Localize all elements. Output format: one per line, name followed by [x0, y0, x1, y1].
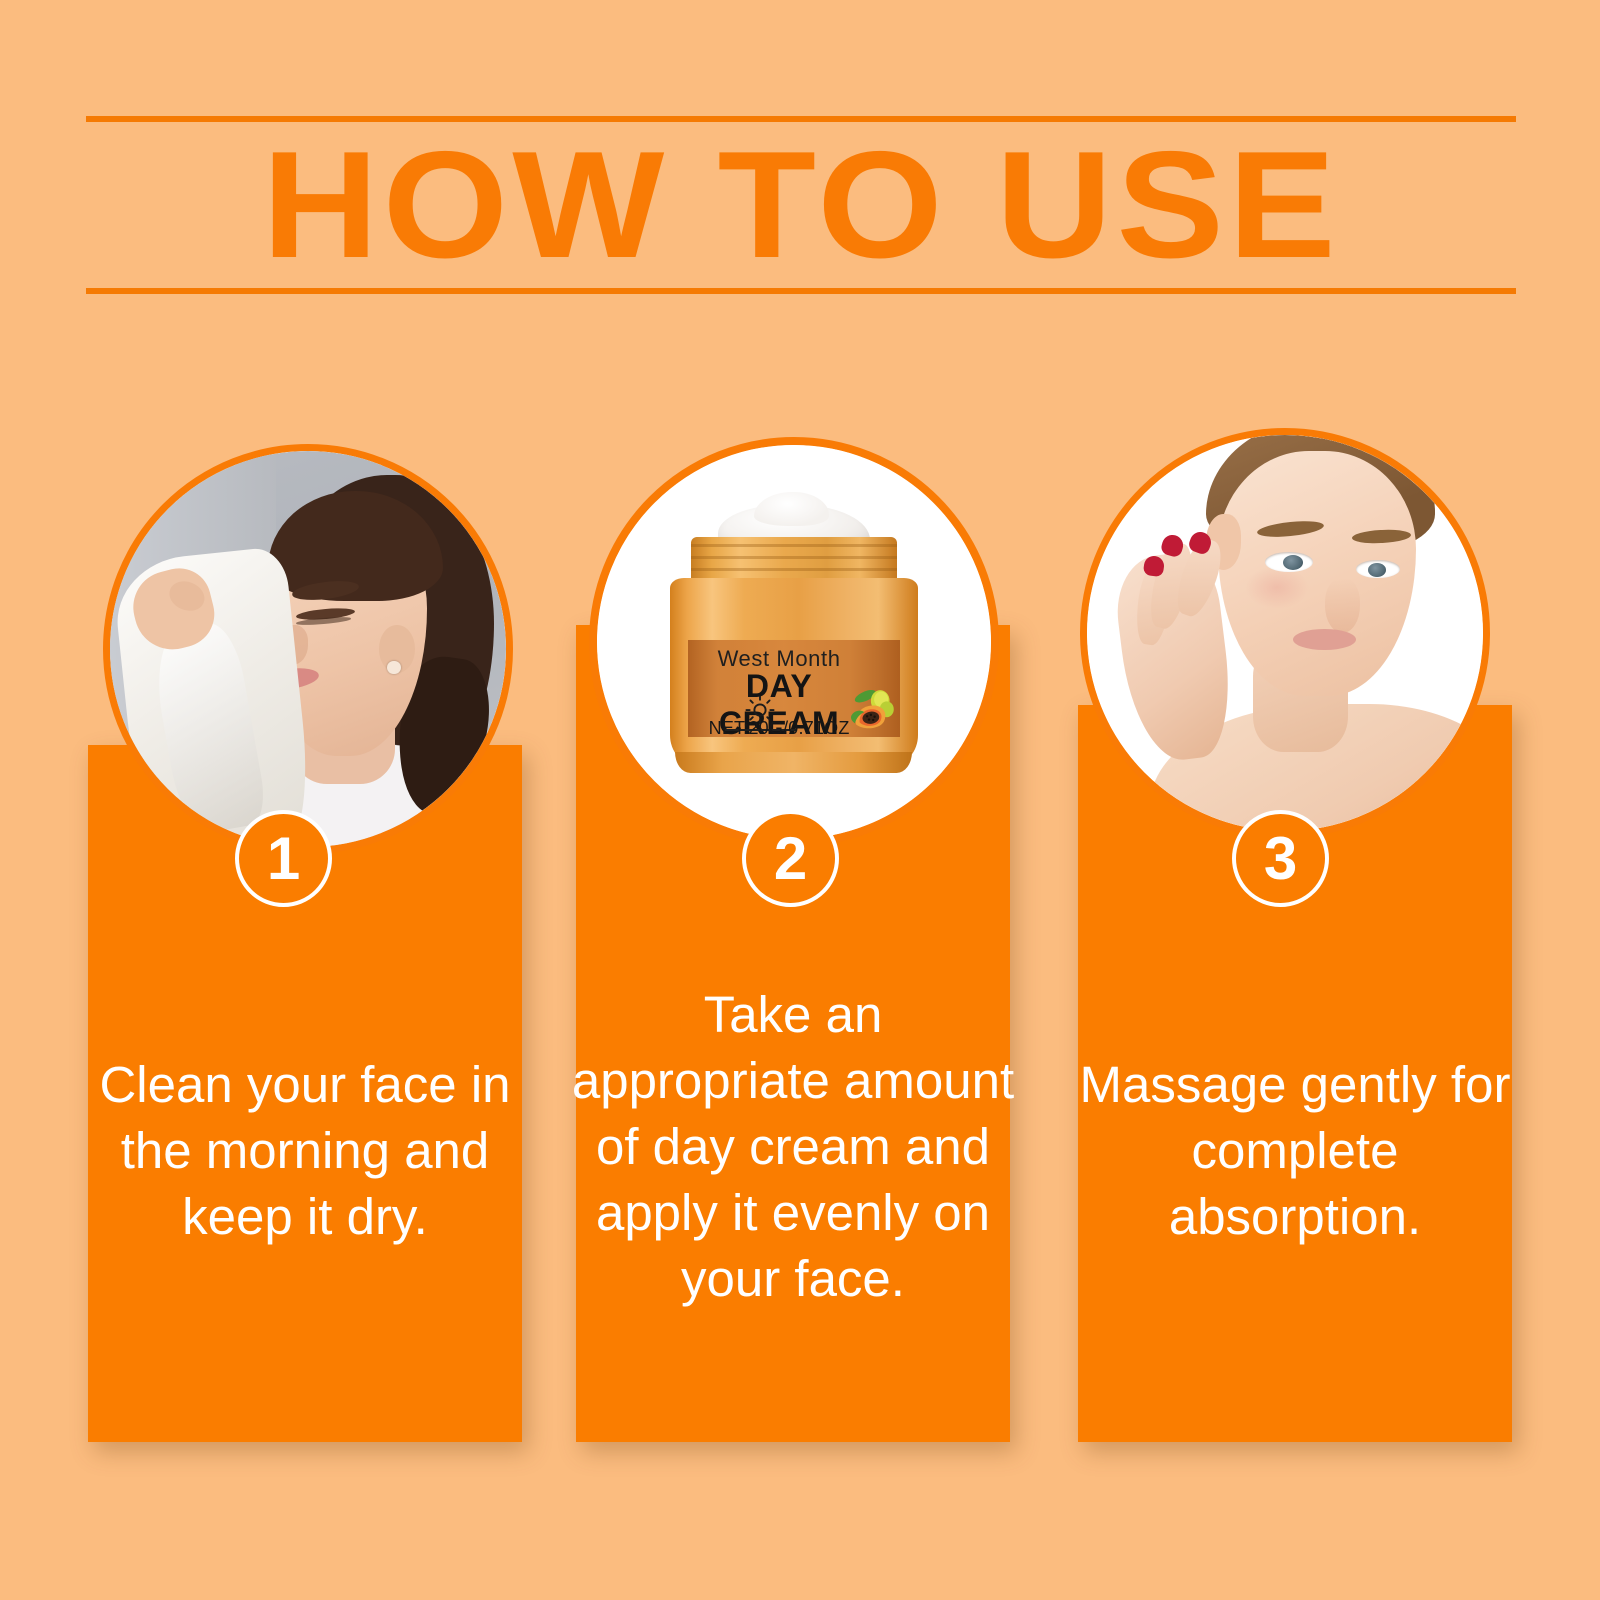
- iris-left: [1283, 555, 1303, 570]
- step-2-photo-inner: West Month DAY CREAM: [597, 445, 991, 839]
- product-net-weight: NET:20G/0.71OZ: [696, 718, 862, 739]
- nose: [1325, 578, 1361, 633]
- cream-jar: West Month DAY CREAM: [668, 508, 920, 768]
- thread-line: [691, 544, 898, 547]
- step-1-photo-inner: [110, 451, 506, 847]
- jar-body: West Month DAY CREAM: [670, 578, 917, 765]
- thread-line: [691, 568, 898, 571]
- step-1-caption: Clean your face in the morning and keep …: [88, 1052, 522, 1250]
- papaya-icon: [839, 685, 903, 732]
- step-2-number-badge: 2: [742, 810, 839, 907]
- jar-label: West Month DAY CREAM: [688, 640, 901, 737]
- iris-right: [1368, 563, 1386, 577]
- jar-base-rim: [675, 752, 912, 773]
- step-1-number-badge: 1: [235, 810, 332, 907]
- earring: [387, 661, 400, 674]
- thread-line: [691, 556, 898, 559]
- step-3-photo: [1080, 428, 1490, 838]
- title-rule-bottom: [86, 288, 1516, 294]
- step-3-photo-inner: [1087, 435, 1483, 831]
- step-3-caption: Massage gently for complete absorption.: [1078, 1052, 1512, 1250]
- step-2-photo: West Month DAY CREAM: [589, 437, 999, 847]
- page-title: HOW TO USE: [43, 122, 1559, 288]
- step-3-number-badge: 3: [1232, 810, 1329, 907]
- cheek-blush: [1245, 566, 1308, 610]
- infographic-page: HOW TO USE: [0, 0, 1600, 1600]
- step-1-photo: [103, 444, 513, 854]
- step-2-caption: Take an appropriate amount of day cream …: [568, 982, 1018, 1312]
